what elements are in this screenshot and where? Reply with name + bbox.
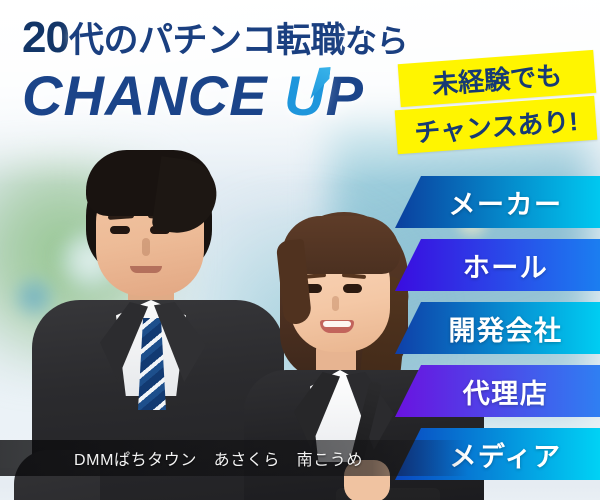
caption-band: DMMぱちタウン あさくら 南こうめ — [0, 440, 600, 476]
logo-chance-up: CHANCE UP — [22, 68, 364, 124]
woman-nose — [332, 296, 339, 311]
man-eye-left — [110, 226, 130, 234]
logo-part-p: P — [326, 64, 364, 127]
woman-eye-right — [343, 284, 362, 293]
logo-letter-u-wrap: U — [284, 68, 325, 124]
tag-hall[interactable]: ホール — [395, 239, 600, 291]
man-nose — [142, 238, 150, 256]
badge-no-experience-label: 未経験でも — [431, 55, 563, 101]
badge-chance-available-label: チャンスあり! — [413, 101, 579, 150]
tag-maker[interactable]: メーカー — [395, 176, 600, 228]
woman-teeth — [323, 321, 351, 327]
headline-text: 20代のパチンコ転職なら — [22, 16, 408, 60]
tag-agency-label: 代理店 — [395, 372, 600, 411]
tag-maker-label: メーカー — [395, 183, 600, 222]
tag-agency[interactable]: 代理店 — [395, 365, 600, 417]
logo-part-chance: CHANCE — [22, 64, 284, 127]
recruitment-banner[interactable]: 20代のパチンコ転職なら CHANCE UP 未経験でも チャンスあり! メーカ… — [0, 0, 600, 500]
headline-middle: 代のパチンコ転職 — [69, 21, 345, 60]
tag-hall-label: ホール — [395, 246, 600, 285]
caption-text: DMMぱちタウン あさくら 南こうめ — [0, 446, 363, 470]
tag-development-company-label: 開発会社 — [395, 309, 600, 348]
headline-number: 20 — [22, 13, 69, 62]
tag-development-company[interactable]: 開発会社 — [395, 302, 600, 354]
headline-tail: なら — [345, 23, 408, 59]
man-mouth — [130, 266, 162, 273]
